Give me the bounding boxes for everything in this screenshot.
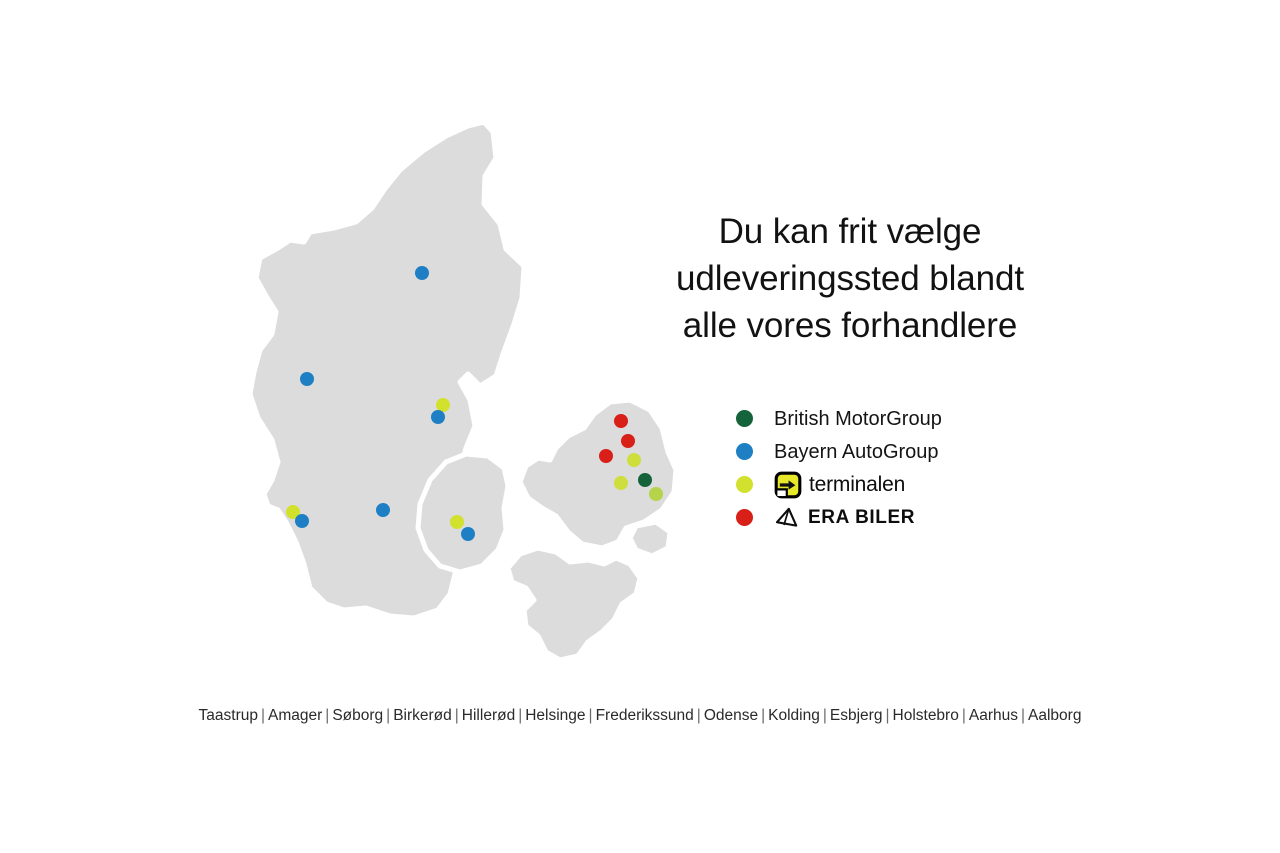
- legend-dot-red: [736, 509, 753, 526]
- headline-line-3: alle vores forhandlere: [610, 302, 1090, 349]
- headline-line-2: udleveringssted blandt: [610, 255, 1090, 302]
- map-marker[interactable]: [621, 434, 635, 448]
- map-marker[interactable]: [415, 266, 429, 280]
- city-separator: |: [322, 707, 332, 724]
- city-separator: |: [586, 707, 596, 724]
- terminalen-logo-icon: [774, 471, 802, 499]
- denmark-map: [238, 118, 698, 678]
- city-separator: |: [758, 707, 768, 724]
- city-separator: |: [959, 707, 969, 724]
- map-marker[interactable]: [599, 449, 613, 463]
- map-marker[interactable]: [431, 410, 445, 424]
- city-name: Hillerød: [462, 707, 515, 724]
- city-name: Kolding: [768, 707, 820, 724]
- map-marker[interactable]: [614, 414, 628, 428]
- map-marker[interactable]: [436, 398, 450, 412]
- city-name: Søborg: [332, 707, 383, 724]
- map-marker[interactable]: [649, 487, 663, 501]
- landmass-lolland-falster: [508, 548, 640, 660]
- city-separator: |: [882, 707, 892, 724]
- city-name: Amager: [268, 707, 322, 724]
- map-marker[interactable]: [461, 527, 475, 541]
- legend-dot-blue: [736, 443, 753, 460]
- brand-legend: British MotorGroup Bayern AutoGroup term…: [736, 402, 1066, 534]
- terminalen-brand: terminalen: [774, 471, 905, 499]
- legend-item-bayern-autogroup[interactable]: Bayern AutoGroup: [736, 435, 1066, 468]
- city-separator: |: [258, 707, 268, 724]
- city-name: Birkerød: [393, 707, 452, 724]
- city-name: Helsinge: [525, 707, 585, 724]
- legend-item-british-motorgroup[interactable]: British MotorGroup: [736, 402, 1066, 435]
- map-marker[interactable]: [295, 514, 309, 528]
- map-marker[interactable]: [450, 515, 464, 529]
- city-list: Taastrup|Amager|Søborg|Birkerød|Hillerød…: [0, 705, 1280, 727]
- headline-line-1: Du kan frit vælge: [610, 208, 1090, 255]
- era-biler-brand: ERA BILER: [774, 506, 915, 530]
- legend-item-era-biler[interactable]: ERA BILER: [736, 501, 1066, 534]
- city-name: Aarhus: [969, 707, 1018, 724]
- map-marker[interactable]: [376, 503, 390, 517]
- city-name: Holstebro: [893, 707, 959, 724]
- city-separator: |: [452, 707, 462, 724]
- map-marker[interactable]: [627, 453, 641, 467]
- map-marker[interactable]: [638, 473, 652, 487]
- legend-dot-yellow: [736, 476, 753, 493]
- city-separator: |: [383, 707, 393, 724]
- city-separator: |: [820, 707, 830, 724]
- city-name: Aalborg: [1028, 707, 1081, 724]
- denmark-map-svg: [238, 118, 698, 678]
- landmass-moen: [630, 522, 670, 556]
- era-biler-wordmark: ERA BILER: [808, 506, 915, 530]
- legend-label-bayern-autogroup: Bayern AutoGroup: [774, 440, 939, 464]
- city-name: Taastrup: [199, 707, 258, 724]
- map-marker[interactable]: [614, 476, 628, 490]
- poster-canvas: Du kan frit vælge udleveringssted blandt…: [0, 0, 1280, 853]
- era-biler-logo-icon: [774, 507, 800, 529]
- city-name: Frederikssund: [596, 707, 694, 724]
- legend-label-british-motorgroup: British MotorGroup: [774, 407, 942, 431]
- city-name: Esbjerg: [830, 707, 883, 724]
- page-title: Du kan frit vælge udleveringssted blandt…: [610, 208, 1090, 349]
- legend-dot-green: [736, 410, 753, 427]
- city-separator: |: [515, 707, 525, 724]
- city-separator: |: [694, 707, 704, 724]
- map-marker[interactable]: [300, 372, 314, 386]
- map-landmasses: [250, 122, 676, 660]
- city-separator: |: [1018, 707, 1028, 724]
- terminalen-wordmark: terminalen: [809, 473, 905, 497]
- legend-item-terminalen[interactable]: terminalen: [736, 468, 1066, 501]
- city-name: Odense: [704, 707, 758, 724]
